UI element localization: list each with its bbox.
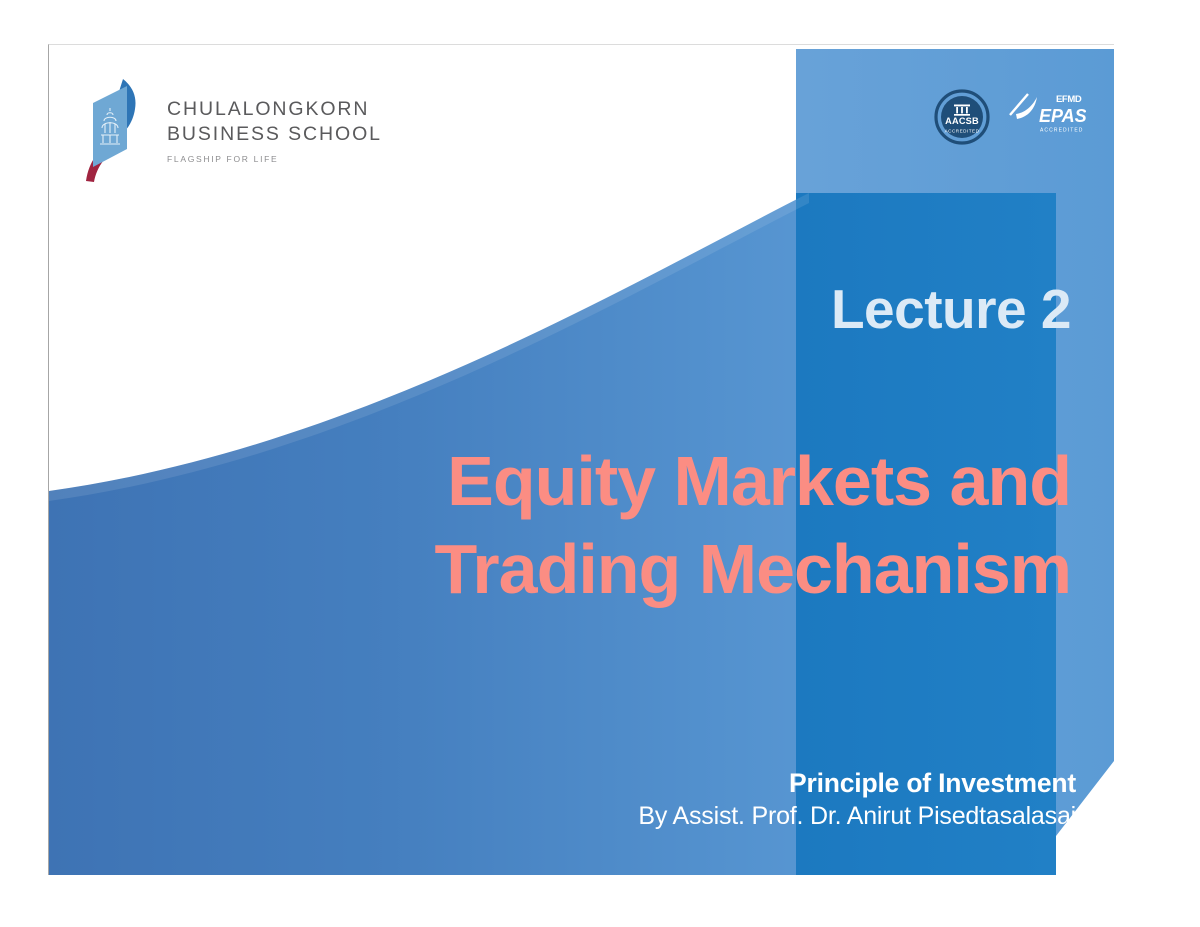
title-line-1: Equity Markets and <box>49 437 1071 525</box>
efmd-epas-accredited-logo-icon: EFMD EPAS ACCREDITED <box>1006 89 1086 145</box>
logo-org-line-2: BUSINESS SCHOOL <box>167 122 382 147</box>
title-line-2: Trading Mechanism <box>49 525 1071 613</box>
author-name: By Assist. Prof. Dr. Anirut Pisedtasalas… <box>638 800 1076 833</box>
logo-wordmark: CHULALONGKORN BUSINESS SCHOOL FLAGSHIP F… <box>167 75 382 164</box>
slide-footer: Principle of Investment By Assist. Prof.… <box>638 767 1076 833</box>
lecture-label: Lecture 2 <box>831 277 1071 341</box>
chula-emblem-icon <box>83 75 145 185</box>
logo-tagline: FLAGSHIP FOR LIFE <box>167 154 382 164</box>
title-slide: CHULALONGKORN BUSINESS SCHOOL FLAGSHIP F… <box>48 44 1114 875</box>
aacsb-sub-label: ACCREDITED <box>945 129 980 134</box>
efmd-label: EFMD <box>1056 94 1082 105</box>
course-name: Principle of Investment <box>638 767 1076 800</box>
aacsb-label: AACSB <box>945 116 979 126</box>
page-title: Equity Markets and Trading Mechanism <box>49 437 1071 613</box>
page-number: 1 <box>1104 815 1114 836</box>
epas-sub-label: ACCREDITED <box>1040 128 1084 134</box>
accreditation-logos: AACSB ACCREDITED EFMD EPAS ACCREDITED <box>934 89 1086 145</box>
aacsb-accredited-seal-icon: AACSB ACCREDITED <box>934 89 990 145</box>
logo-org-line-1: CHULALONGKORN <box>167 97 382 122</box>
epas-label: EPAS <box>1039 106 1086 126</box>
chulalongkorn-business-school-logo: CHULALONGKORN BUSINESS SCHOOL FLAGSHIP F… <box>83 75 383 200</box>
